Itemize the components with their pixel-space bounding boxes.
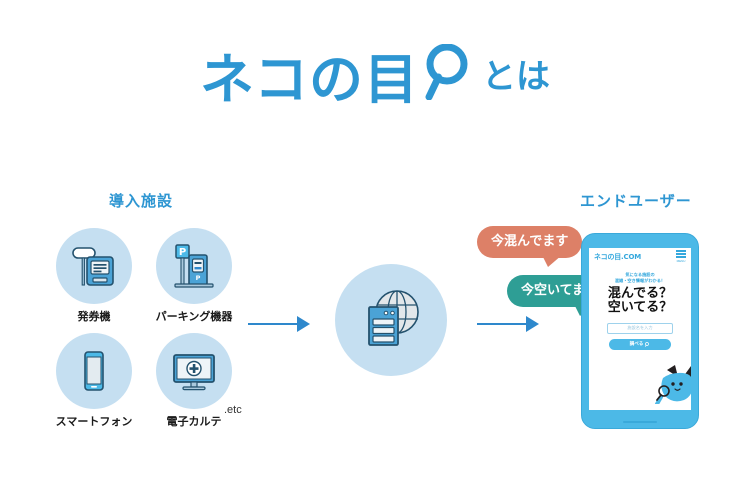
facility-item-electronic-chart: 電子カルテ: [144, 333, 244, 438]
arrow-head: [526, 316, 539, 332]
arrow-server-to-user: [477, 316, 539, 332]
app-subtitle-line1: 気になる施設の: [625, 272, 654, 277]
phone-screen: ネコの目.COM MENU 気になる施設の 混雑・空き情報がわかる！ 混んでる？…: [589, 248, 691, 410]
server-globe-icon: [335, 264, 447, 376]
facility-label: 発券機: [78, 308, 111, 324]
arrow-facilities-to-server: [248, 316, 310, 332]
neko-no-me-logo: ネコの目: [200, 44, 468, 107]
facility-label: パーキング機器: [156, 308, 233, 324]
facility-label: スマートフォン: [56, 413, 133, 429]
svg-text:P: P: [196, 274, 201, 282]
app-logo: ネコの目.COM: [594, 252, 641, 262]
page-title: ネコの目 とは: [0, 44, 750, 107]
phone-mockup: ネコの目.COM MENU 気になる施設の 混雑・空き情報がわかる！ 混んでる？…: [581, 233, 699, 429]
search-button[interactable]: 調べる: [609, 339, 671, 350]
app-subtitle-line2: 混雑・空き情報がわかる！: [615, 278, 665, 283]
search-button-label: 調べる: [630, 341, 644, 347]
hamburger-menu-icon[interactable]: MENU: [676, 250, 686, 263]
section-heading-facilities: 導入施設: [109, 190, 173, 211]
arrow-shaft: [248, 323, 298, 326]
facility-item-ticket-machine: 発券機: [44, 228, 144, 333]
facility-item-parking-meter: P P パーキング機器: [144, 228, 244, 333]
arrow-head: [297, 316, 310, 332]
svg-text:P: P: [179, 247, 186, 258]
section-heading-end-user: エンドユーザー: [580, 190, 692, 211]
parking-meter-icon: P P: [156, 228, 232, 304]
medical-monitor-icon: [156, 333, 232, 409]
etc-note: .etc: [224, 404, 242, 416]
facility-label: 電子カルテ: [167, 413, 222, 429]
speech-bubble-busy: 今混んでます: [477, 226, 582, 258]
app-headline-line2: 空いてる？: [589, 301, 691, 316]
app-subtitle: 気になる施設の 混雑・空き情報がわかる！: [589, 272, 691, 285]
smartphone-icon: [56, 333, 132, 409]
menu-label: MENU: [677, 260, 686, 263]
home-indicator: [623, 421, 657, 424]
app-headline-line1: 混んでる？: [589, 287, 691, 302]
app-headline: 混んでる？ 空いてる？: [589, 287, 691, 316]
cat-mascot-with-magnifier-icon: [647, 364, 691, 404]
ticket-machine-icon: [56, 228, 132, 304]
facility-search-input[interactable]: 施設名を入力: [607, 323, 673, 334]
arrow-shaft: [477, 323, 527, 326]
title-suffix: とは: [482, 49, 550, 102]
facility-icon-grid: 発券機 P P パーキング機器 スマートフォン: [44, 228, 244, 438]
facility-item-smartphone: スマートフォン: [44, 333, 144, 438]
app-topbar: ネコの目.COM MENU: [589, 248, 691, 265]
magnifier-eye-logo-icon: [422, 44, 468, 105]
search-icon: [645, 342, 650, 347]
logo-text: ネコの目: [200, 53, 419, 107]
